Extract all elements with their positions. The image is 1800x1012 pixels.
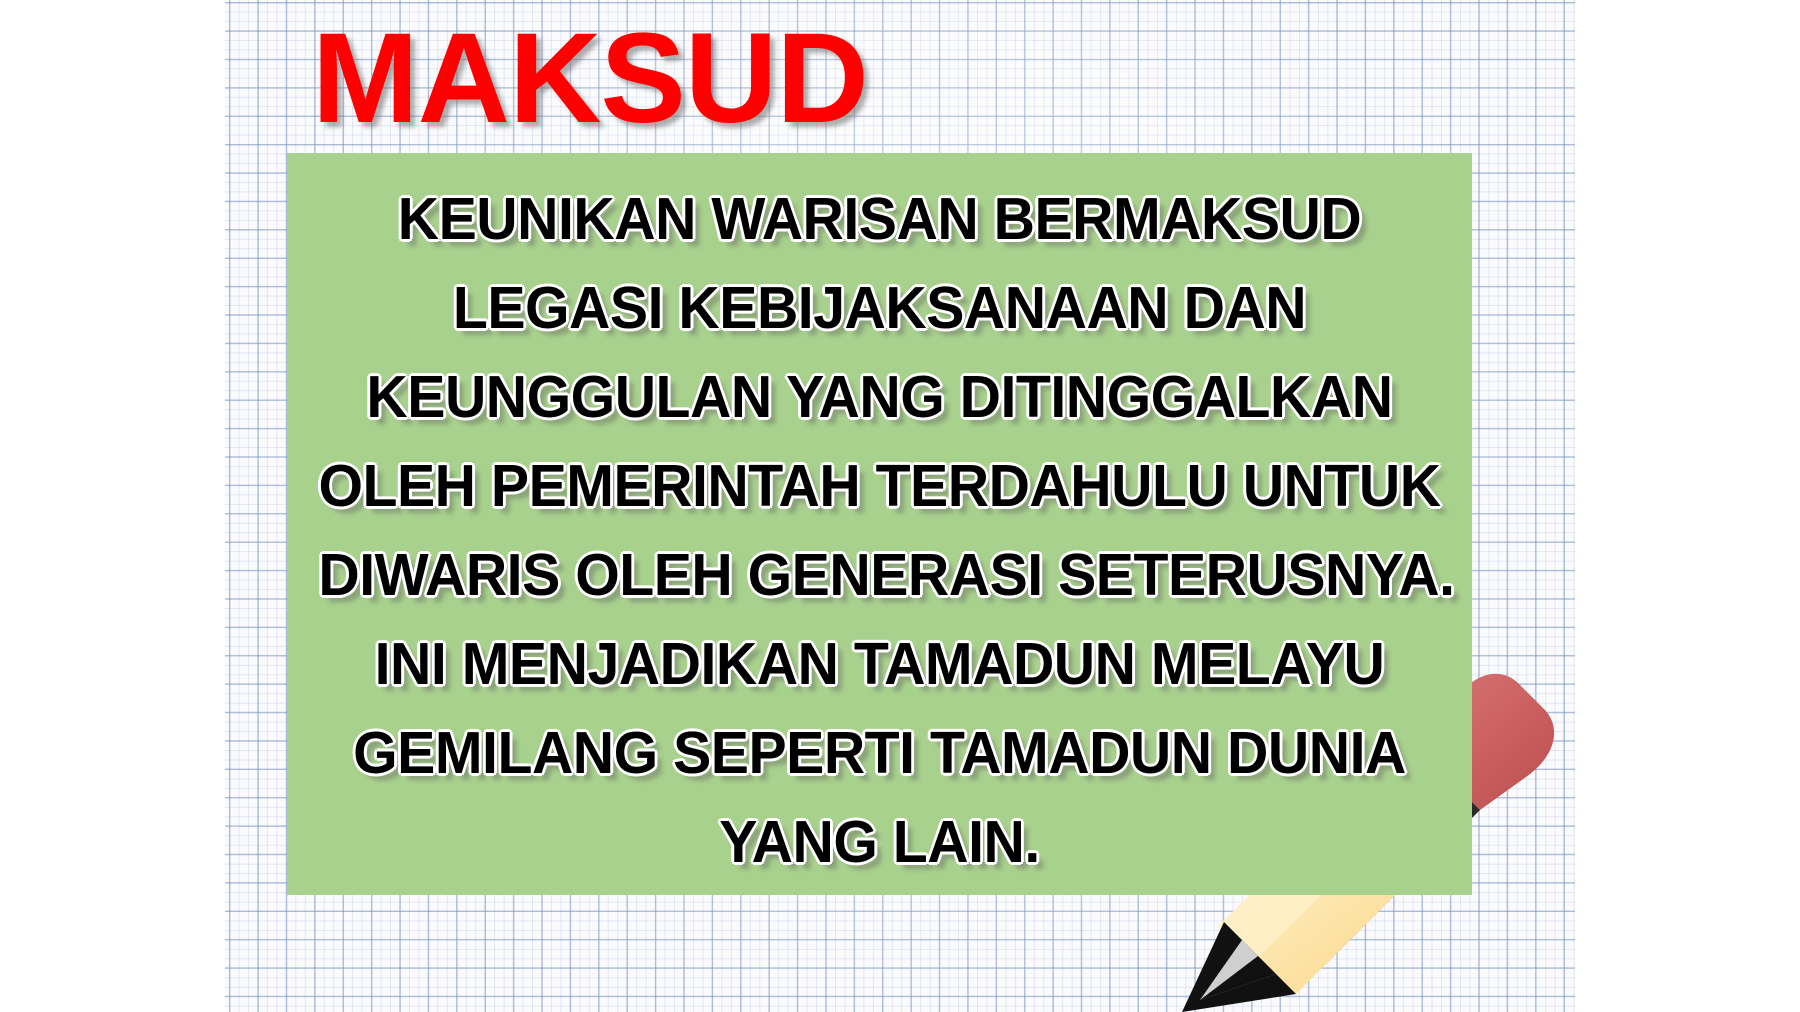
body-text-line: OLEH PEMERINTAH TERDAHULU UNTUK — [318, 442, 1440, 531]
content-panel: KEUNIKAN WARISAN BERMAKSUDLEGASI KEBIJAK… — [287, 153, 1472, 895]
body-text-line: GEMILANG SEPERTI TAMADUN DUNIA — [318, 709, 1440, 798]
body-text: KEUNIKAN WARISAN BERMAKSUDLEGASI KEBIJAK… — [318, 175, 1440, 887]
body-text-line: YANG LAIN. — [318, 798, 1440, 887]
body-text-line: KEUNGGULAN YANG DITINGGALKAN — [318, 353, 1440, 442]
body-text-line: KEUNIKAN WARISAN BERMAKSUD — [318, 175, 1440, 264]
page-title: MAKSUD — [312, 12, 868, 146]
body-text-line: LEGASI KEBIJAKSANAAN DAN — [318, 264, 1440, 353]
slide-canvas: MAKSUD KEUNIKAN WARISAN BERMAKSUDLEGASI … — [0, 0, 1800, 1012]
body-text-line: INI MENJADIKAN TAMADUN MELAYU — [318, 620, 1440, 709]
body-text-line: DIWARIS OLEH GENERASI SETERUSNYA. — [318, 531, 1440, 620]
